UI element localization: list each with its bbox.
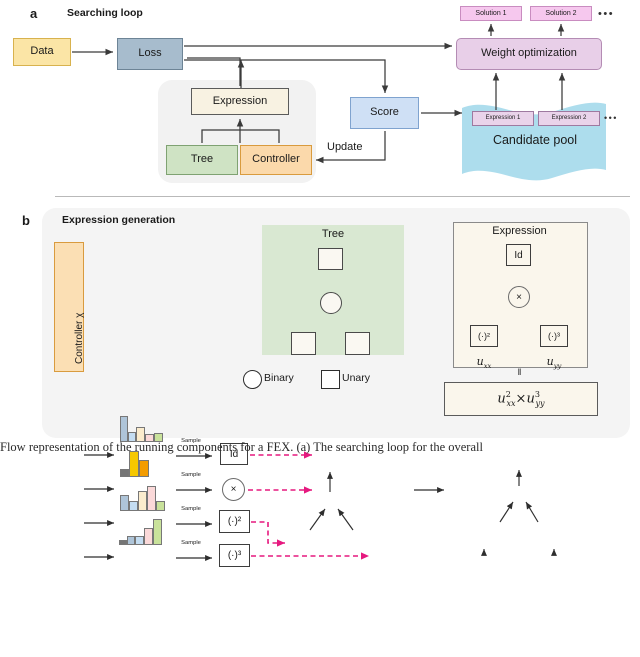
tree-node-left-leaf[interactable] — [291, 332, 316, 355]
node-tree[interactable]: Tree — [166, 145, 238, 175]
legend-unary-icon — [321, 370, 340, 389]
bar — [139, 460, 149, 477]
update-label: Update — [327, 141, 362, 153]
figure-root: a Searching loop Data Loss Expression Tr… — [0, 0, 640, 457]
tree-node-binary[interactable] — [320, 292, 342, 314]
tree-edge-right-to-binary — [338, 509, 353, 530]
dashed-arrow-square-to-left-leaf — [251, 522, 285, 543]
node-score[interactable]: Score — [350, 97, 419, 129]
bar — [120, 416, 128, 442]
node-expression-label: Expression — [213, 96, 267, 108]
bar — [153, 519, 162, 545]
solution-1-badge[interactable]: Solution 1 — [460, 6, 522, 21]
expression-node-root-label: Id — [514, 250, 522, 261]
sample-label-3: Sample — [174, 506, 208, 512]
operator-token-square[interactable]: (·)² — [219, 510, 250, 533]
legend-binary-label: Binary — [264, 372, 294, 384]
bar — [119, 540, 127, 545]
node-tree-label: Tree — [191, 154, 213, 166]
panel-a-title: Searching loop — [67, 7, 143, 19]
panel-b-title: Expression generation — [62, 214, 175, 226]
bar — [156, 501, 165, 511]
tree-node-right-leaf[interactable] — [345, 332, 370, 355]
bar — [127, 536, 135, 545]
expr-edge-right-to-binary — [526, 502, 538, 522]
tree-title: Tree — [262, 228, 404, 240]
panel-divider — [55, 196, 630, 197]
sample-label-2: Sample — [174, 472, 208, 478]
panel-b-letter: b — [22, 213, 30, 228]
solution-2-label: Solution 2 — [545, 10, 576, 17]
tree-node-root[interactable] — [318, 248, 343, 270]
expr-edge-left-to-binary — [500, 502, 513, 522]
expression-2-badge[interactable]: Expression 2 — [538, 111, 600, 126]
legend-unary-label: Unary — [342, 372, 370, 384]
panel-a: a Searching loop Data Loss Expression Tr… — [0, 0, 640, 198]
node-controller[interactable]: Controller — [240, 145, 312, 175]
node-data-label: Data — [30, 46, 53, 58]
expression-2-label: Expression 2 — [552, 115, 587, 121]
expression-node-root[interactable]: Id — [506, 244, 531, 266]
node-expression[interactable]: Expression — [191, 88, 289, 115]
panel-b: b Expression generation Controller χ — [0, 200, 640, 440]
expression-node-binary-label: × — [516, 292, 522, 303]
final-expression-text: u2xx×u3yy — [497, 390, 544, 408]
candidate-pool-label: Candidate pool — [470, 133, 600, 147]
solutions-ellipsis: ••• — [598, 8, 614, 20]
tree-edge-left-to-binary — [310, 509, 325, 530]
bar — [144, 528, 153, 545]
operator-token-cube-label: (·)³ — [228, 550, 241, 561]
bar — [135, 536, 144, 545]
bar — [147, 486, 156, 511]
node-controller-label: Controller — [252, 154, 300, 166]
node-data[interactable]: Data — [13, 38, 71, 66]
bar — [120, 469, 129, 477]
equals-symbol: ‖ — [453, 367, 586, 377]
expression-node-left-unary[interactable]: (·)² — [470, 325, 498, 347]
solution-2-badge[interactable]: Solution 2 — [530, 6, 592, 21]
node-loss-label: Loss — [138, 48, 161, 60]
bar — [138, 491, 147, 511]
final-expression-box: u2xx×u3yy — [444, 382, 598, 416]
figure-caption: Flow representation of the running compo… — [0, 440, 640, 455]
expression-title: Expression — [453, 225, 586, 237]
operator-token-square-label: (·)² — [228, 516, 241, 527]
expression-node-left-unary-label: (·)² — [478, 331, 490, 341]
operator-token-cube[interactable]: (·)³ — [219, 544, 250, 567]
expression-1-badge[interactable]: Expression 1 — [472, 111, 534, 126]
panel-a-letter: a — [30, 6, 37, 21]
controller-block-label: Controller χ — [74, 313, 85, 364]
node-weight-optimization[interactable]: Weight optimization — [456, 38, 602, 70]
expression-node-right-unary-label: (·)³ — [548, 331, 560, 341]
expressions-ellipsis: ••• — [604, 113, 618, 123]
expression-1-label: Expression 1 — [486, 115, 521, 121]
node-score-label: Score — [370, 107, 399, 119]
legend-binary-icon — [243, 370, 262, 389]
bar — [129, 501, 138, 511]
node-weight-optimization-label: Weight optimization — [481, 48, 577, 60]
expression-node-binary[interactable]: × — [508, 286, 530, 308]
operator-token-multiply-label: × — [231, 484, 237, 495]
sample-label-4: Sample — [174, 540, 208, 546]
bar — [120, 495, 129, 511]
solution-1-label: Solution 1 — [475, 10, 506, 17]
operator-token-multiply[interactable]: × — [222, 478, 245, 501]
expression-node-right-unary[interactable]: (·)³ — [540, 325, 568, 347]
tree-region — [262, 225, 404, 355]
node-loss[interactable]: Loss — [117, 38, 183, 70]
